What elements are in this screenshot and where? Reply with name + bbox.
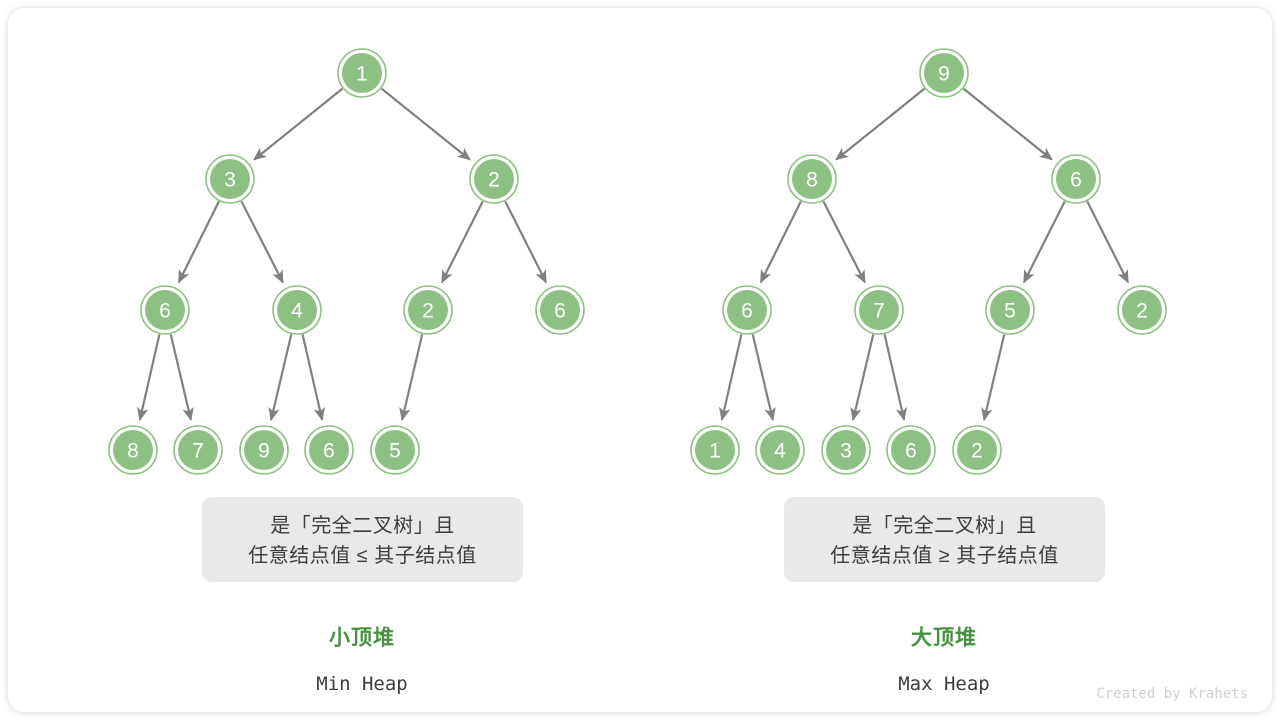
node-value: 4 [291,300,303,323]
tree-edge [241,201,283,282]
caption-line-2: 任意结点值 ≥ 其子结点值 [830,544,1059,567]
tree-node: 6 [536,286,584,334]
node-value: 4 [774,440,786,463]
tree-edge [171,334,191,419]
node-value: 9 [258,440,270,463]
node-value: 6 [1070,169,1082,192]
node-value: 6 [159,300,171,323]
tree-node: 6 [141,286,189,334]
tree-node: 6 [887,426,935,474]
node-value: 2 [971,440,983,463]
panel-title-cn: 大顶堆 [911,627,977,650]
panel-caption: 是「完全二叉树」且任意结点值 ≤ 其子结点值 [202,497,523,582]
node-value: 7 [873,300,885,323]
tree-node: 1 [338,49,386,97]
node-value: 6 [905,440,917,463]
caption-line-1: 是「完全二叉树」且 [270,514,455,537]
tree-edge [505,201,546,282]
caption-background [784,497,1105,582]
tree-edge [853,334,873,419]
captions-layer: 是「完全二叉树」且任意结点值 ≤ 其子结点值小顶堆Min Heap是「完全二叉树… [202,497,1105,695]
heap-comparison-diagram: 132642687965986675214362 是「完全二叉树」且任意结点值 … [8,8,1272,712]
tree-edge [402,334,422,419]
tree-node: 3 [822,426,870,474]
caption-background [202,497,523,582]
nodes-layer: 132642687965986675214362 [109,49,1166,474]
node-value: 6 [554,300,566,323]
node-value: 1 [356,63,368,86]
tree-edge [753,334,773,419]
tree-node: 6 [1052,155,1100,203]
tree-node: 7 [855,286,903,334]
tree-node: 4 [756,426,804,474]
tree-node: 5 [986,286,1034,334]
tree-node: 7 [174,426,222,474]
tree-edge [254,89,342,160]
node-value: 5 [1004,300,1016,323]
node-value: 5 [389,440,401,463]
tree-node: 9 [240,426,288,474]
edges-layer [140,89,1128,420]
tree-edge [140,334,160,419]
tree-edge [823,201,865,282]
tree-node: 2 [470,155,518,203]
tree-edge [885,334,905,419]
tree-node: 8 [788,155,836,203]
tree-node: 6 [305,426,353,474]
panel-title-cn: 小顶堆 [329,627,395,650]
tree-edge [303,334,323,419]
node-value: 3 [224,169,236,192]
tree-edge [963,89,1051,160]
tree-edge [722,334,742,419]
node-value: 3 [840,440,852,463]
tree-node: 1 [691,426,739,474]
diagram-card: 132642687965986675214362 是「完全二叉树」且任意结点值 … [8,8,1272,712]
tree-node: 9 [920,49,968,97]
node-value: 6 [323,440,335,463]
tree-edge [761,201,801,282]
tree-edge [984,334,1004,419]
tree-node: 3 [206,155,254,203]
node-value: 1 [709,440,721,463]
diagram-canvas: 132642687965986675214362 是「完全二叉树」且任意结点值 … [0,0,1280,720]
node-value: 9 [938,63,950,86]
panel-caption: 是「完全二叉树」且任意结点值 ≥ 其子结点值 [784,497,1105,582]
watermark-credit: Created by Krahets [1096,686,1248,702]
tree-node: 4 [273,286,321,334]
tree-node: 2 [1118,286,1166,334]
tree-edge [442,201,483,282]
caption-line-1: 是「完全二叉树」且 [852,514,1037,537]
tree-edge [1087,201,1128,282]
tree-edge [271,334,291,419]
panel-title-en: Max Heap [898,673,990,695]
tree-edge [836,89,924,160]
node-value: 2 [488,169,500,192]
tree-node: 2 [404,286,452,334]
tree-node: 5 [371,426,419,474]
tree-edge [381,89,469,160]
node-value: 7 [192,440,204,463]
node-value: 6 [741,300,753,323]
tree-edge [1024,201,1065,282]
panel-title-en: Min Heap [316,673,408,695]
caption-line-2: 任意结点值 ≤ 其子结点值 [248,544,477,567]
node-value: 8 [127,440,139,463]
node-value: 8 [806,169,818,192]
tree-node: 8 [109,426,157,474]
tree-node: 6 [723,286,771,334]
tree-node: 2 [953,426,1001,474]
node-value: 2 [422,300,434,323]
tree-edge [179,201,219,282]
node-value: 2 [1136,300,1148,323]
